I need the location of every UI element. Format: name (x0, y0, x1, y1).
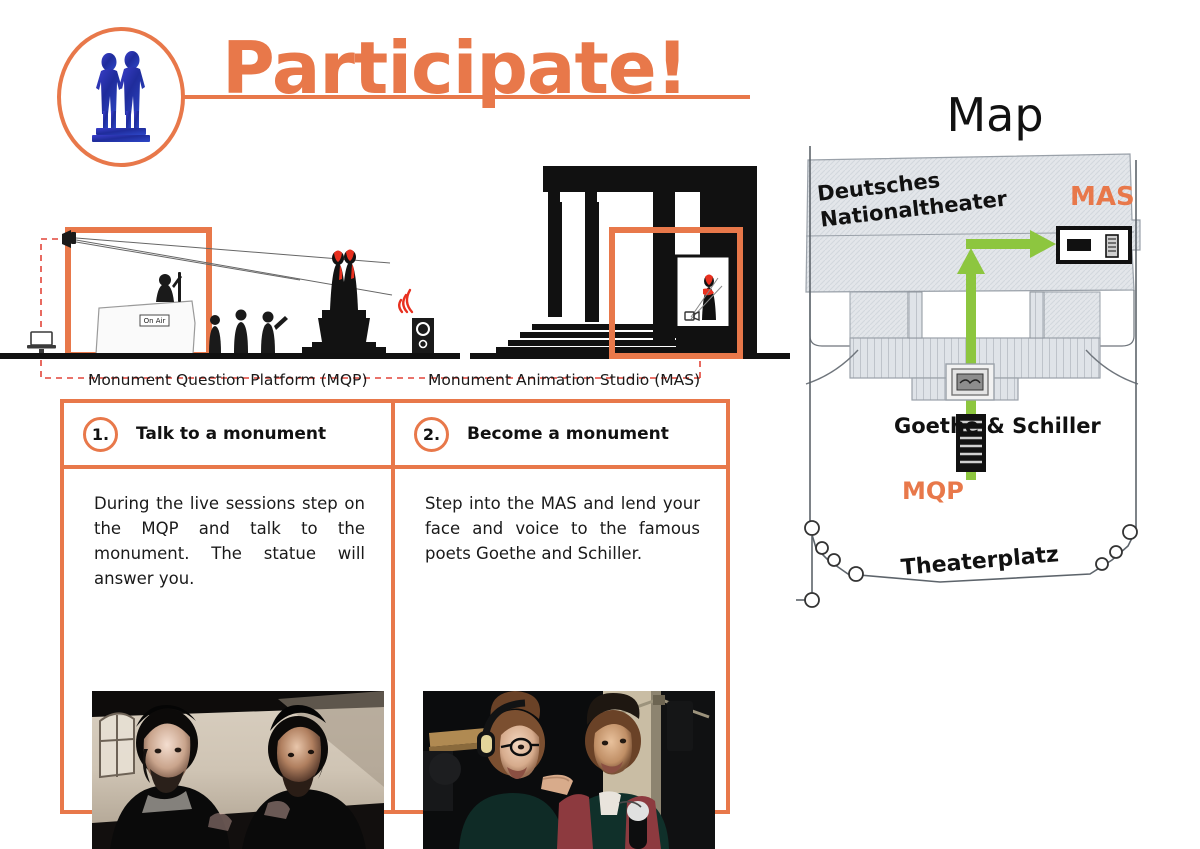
step-2-body-cell: Step into the MAS and lend your face and… (395, 469, 726, 810)
step-1-header-cell: 1. Talk to a monument (64, 403, 395, 465)
audience-silhouettes (209, 310, 288, 354)
map-panel: Map (790, 0, 1200, 834)
step-2-title: Become a monument (467, 424, 669, 444)
map-title: Map (790, 88, 1200, 142)
steps-body-row: During the live sessions step on the MQP… (64, 469, 726, 810)
step-2-header-cell: 2. Become a monument (395, 403, 726, 465)
photo-studio-performers (423, 691, 715, 849)
projector-icon (62, 230, 76, 248)
wifi-waves-icon (399, 290, 412, 312)
step-2-photo (423, 691, 715, 849)
page-title: Participate! (222, 32, 688, 104)
step-2-description: Step into the MAS and lend your face and… (395, 469, 726, 566)
ground-line-left (0, 353, 460, 359)
laptop-icon (27, 332, 56, 353)
map-label-monument: Goethe & Schiller (894, 414, 1101, 438)
step-1-photo (92, 691, 384, 849)
mas-marker-icon (1058, 228, 1130, 262)
arched-window (100, 713, 134, 777)
loudspeaker-icon (412, 318, 434, 353)
scene-illustration: On Air (0, 160, 790, 390)
step-2-number: 2. (414, 417, 449, 452)
steps-table: 1. Talk to a monument 2. Become a monume… (60, 399, 730, 814)
step-1-description: During the live sessions step on the MQP… (64, 469, 391, 591)
step-1-number: 1. (83, 417, 118, 452)
goethe-schiller-monument (302, 250, 386, 354)
map-label-mqp: MQP (902, 477, 964, 505)
photo-projected-faces (92, 691, 384, 849)
step-2-header: 2. Become a monument (395, 403, 726, 465)
monument-marker-icon (946, 364, 994, 400)
step-1-header: 1. Talk to a monument (64, 403, 391, 465)
mas-stage (676, 256, 736, 356)
scene-svg: On Air (0, 160, 790, 390)
step-1-title: Talk to a monument (136, 424, 326, 444)
logo-badge (57, 27, 185, 167)
step-1-body-cell: During the live sessions step on the MQP… (64, 469, 395, 810)
infographic-page: Participate! (0, 0, 1200, 834)
mqp-platform: On Air (96, 272, 195, 354)
header: Participate! (0, 0, 800, 175)
steps-header-row: 1. Talk to a monument 2. Become a monume… (64, 403, 726, 469)
caption-mqp: Monument Question Platform (MQP) (88, 371, 368, 389)
map-label-mas: MAS (1070, 182, 1135, 212)
on-air-label: On Air (144, 317, 166, 325)
caption-mas: Monument Animation Studio (MAS) (428, 371, 700, 389)
goethe-schiller-statue-icon (84, 47, 158, 147)
